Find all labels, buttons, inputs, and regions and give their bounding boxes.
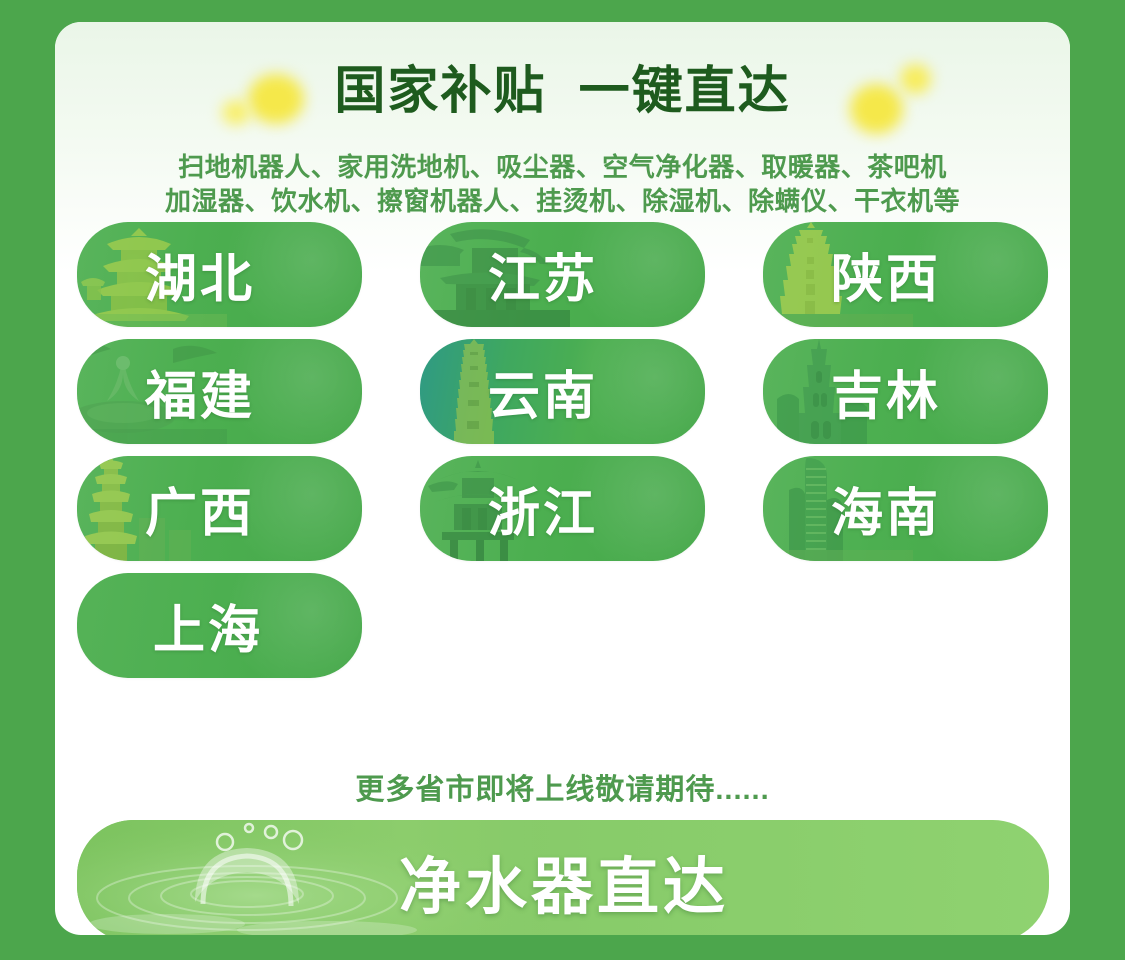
province-pill-guangxi[interactable]: 广西 <box>77 456 362 561</box>
product-line-2: 加湿器、饮水机、擦窗机器人、挂烫机、除湿机、除螨仪、干衣机等 <box>55 184 1070 218</box>
province-label: 吉林 <box>831 354 941 429</box>
province-row-1: 湖北 <box>77 222 1049 327</box>
province-pill-jilin[interactable]: 吉林 <box>763 339 1048 444</box>
product-line-1: 扫地机器人、家用洗地机、吸尘器、空气净化器、取暖器、茶吧机 <box>55 150 1070 184</box>
province-row-4: 上海 <box>77 573 1049 678</box>
province-label: 福建 <box>145 354 255 429</box>
province-label: 云南 <box>488 354 598 429</box>
province-label: 海南 <box>831 471 941 546</box>
coming-soon-text: 更多省市即将上线敬请期待...... <box>55 766 1070 808</box>
province-pill-jiangsu[interactable]: 江苏 <box>420 222 705 327</box>
poster-card: 国家补贴 一键直达 扫地机器人、家用洗地机、吸尘器、空气净化器、取暖器、茶吧机 … <box>55 22 1070 935</box>
water-purifier-banner[interactable]: 净水器直达 <box>77 820 1049 935</box>
province-pill-zhejiang[interactable]: 浙江 <box>420 456 705 561</box>
province-pill-shanghai[interactable]: 上海 <box>77 573 362 678</box>
province-row-3: 广西 <box>77 456 1049 561</box>
province-label: 上海 <box>153 588 263 663</box>
province-label: 陕西 <box>831 237 941 312</box>
province-pill-hubei[interactable]: 湖北 <box>77 222 362 327</box>
province-label: 湖北 <box>145 237 255 312</box>
poster-frame: 国家补贴 一键直达 扫地机器人、家用洗地机、吸尘器、空气净化器、取暖器、茶吧机 … <box>0 0 1125 960</box>
province-label: 浙江 <box>488 471 598 546</box>
page-title: 国家补贴 一键直达 <box>55 60 1070 122</box>
province-label: 江苏 <box>488 237 598 312</box>
product-category-list: 扫地机器人、家用洗地机、吸尘器、空气净化器、取暖器、茶吧机 加湿器、饮水机、擦窗… <box>55 150 1070 218</box>
province-pill-hainan[interactable]: 海南 <box>763 456 1048 561</box>
province-row-2: 福建 <box>77 339 1049 444</box>
province-label: 广西 <box>145 471 255 546</box>
province-pill-yunnan[interactable]: 云南 <box>420 339 705 444</box>
province-pill-shaanxi[interactable]: 陕西 <box>763 222 1048 327</box>
province-pill-fujian[interactable]: 福建 <box>77 339 362 444</box>
banner-label: 净水器直达 <box>77 820 1049 935</box>
province-grid: 湖北 <box>77 222 1049 690</box>
